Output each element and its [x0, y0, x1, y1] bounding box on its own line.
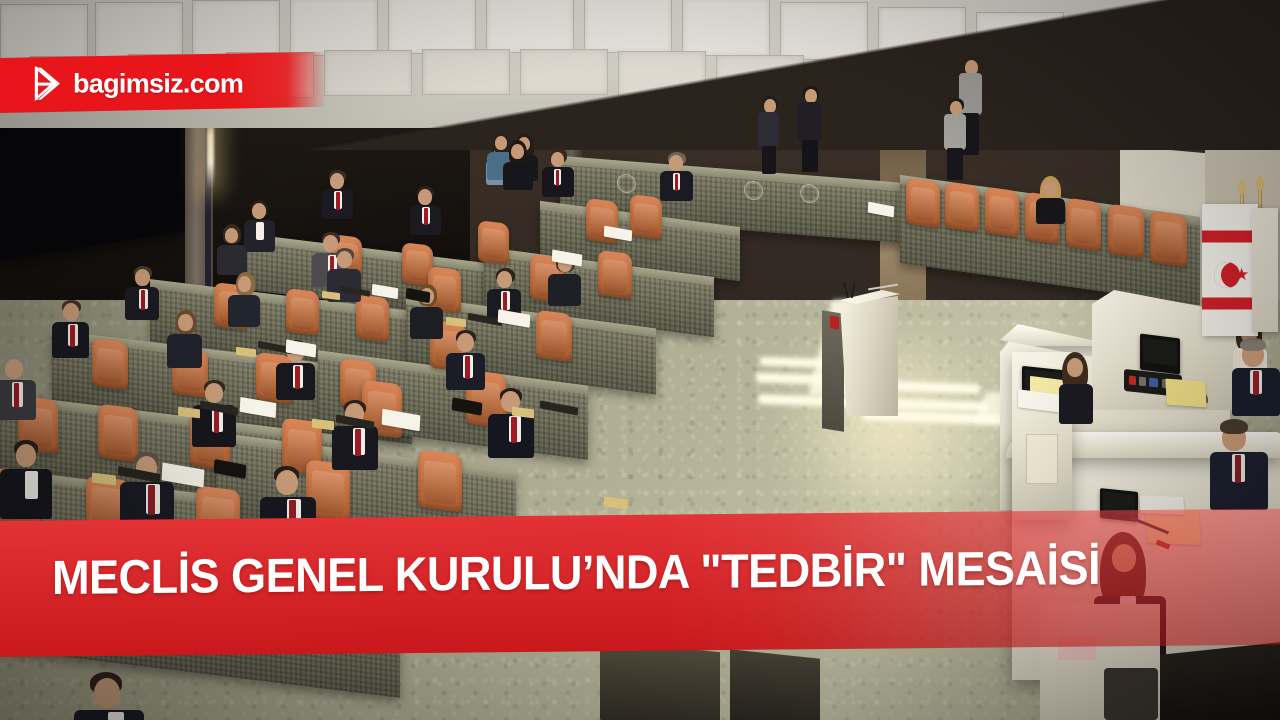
assembly-emblem: [800, 183, 819, 203]
foreground-bench: [730, 649, 820, 720]
chevron-logo-icon: [34, 66, 64, 100]
foreground-bench: [600, 640, 720, 720]
headline-title: MECLİS GENEL KURULU’NDA "TEDBİR" MESAİSİ: [52, 542, 1189, 605]
chair: [630, 194, 662, 240]
screenshot-root: (function(){ var c=document.currentScrip…: [0, 0, 1280, 720]
chair: [356, 294, 389, 342]
chair: [1066, 198, 1101, 252]
presidium-paper-tray: [1026, 434, 1058, 484]
foreground-desk: [1160, 641, 1280, 720]
chair: [1108, 203, 1144, 258]
turkey-flag: [1252, 208, 1278, 332]
assembly-emblem: [744, 180, 763, 200]
chair: [1150, 210, 1187, 267]
podium-indicator-light: [830, 315, 839, 329]
chair: [418, 449, 462, 512]
brand-name: bagimsiz.com: [73, 68, 243, 99]
presidium-yellow-document: [1165, 379, 1206, 408]
chair: [478, 220, 509, 265]
assembly-emblem: [617, 173, 636, 193]
chair: [945, 182, 979, 233]
speaker-podium: [840, 296, 898, 416]
chair: [598, 250, 632, 299]
chair: [536, 310, 572, 362]
chair: [906, 178, 940, 229]
chair: [92, 338, 128, 390]
chair: [985, 187, 1019, 238]
brand-watermark-bar[interactable]: bagimsiz.com: [0, 52, 326, 113]
chair-back: [1104, 668, 1158, 720]
chair: [98, 404, 138, 463]
trnc-flag: ★: [1202, 204, 1258, 336]
desk-monitor: [1140, 334, 1180, 375]
chair: [286, 288, 319, 336]
